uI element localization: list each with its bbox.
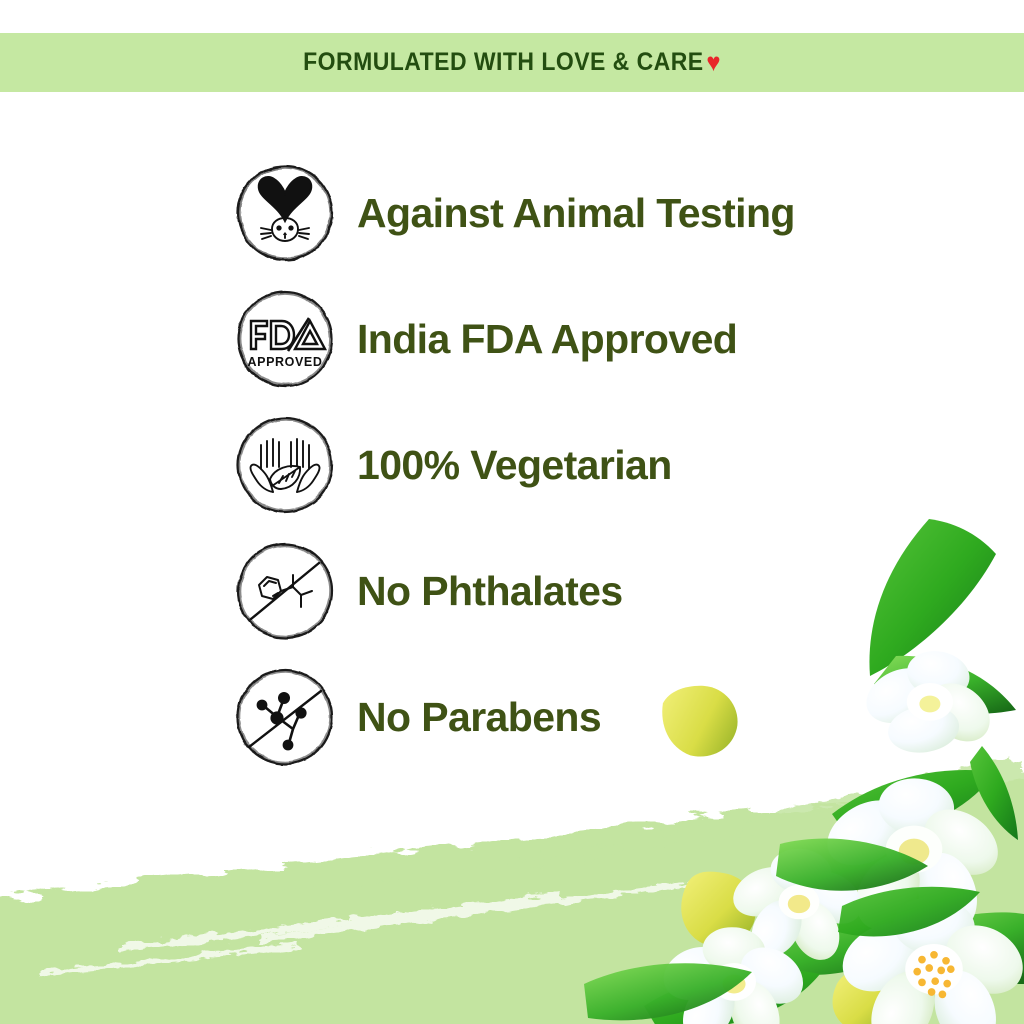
jasmine-flower-center (816, 775, 1010, 940)
claim-row-no-parabens: No Parabens (231, 664, 931, 770)
header-banner: FORMULATED WITH LOVE & CARE♥ (0, 33, 1024, 92)
no-phthalates-molecule-icon (231, 537, 339, 645)
fda-approved-icon: APPROVED (231, 285, 339, 393)
leaf-group-front (584, 839, 980, 1021)
fda-approved-sublabel: APPROVED (248, 355, 323, 369)
claim-label: No Parabens (357, 697, 601, 738)
claim-label: India FDA Approved (357, 319, 737, 360)
claim-row-vegetarian: 100% Vegetarian (231, 412, 931, 518)
claim-label: No Phthalates (357, 571, 623, 612)
banner-title: FORMULATED WITH LOVE & CARE♥ (303, 48, 721, 77)
claim-label: Against Animal Testing (357, 193, 795, 234)
hands-holding-leaf-icon (231, 411, 339, 519)
cruelty-free-bunny-heart-icon (231, 159, 339, 267)
product-claims-list: Against Animal Testing (231, 160, 931, 790)
no-parabens-molecule-icon (231, 663, 339, 771)
infographic-canvas: FORMULATED WITH LOVE & CARE♥ (0, 0, 1024, 1024)
jasmine-flower-lower-right (831, 894, 1024, 1024)
jasmine-flower-left-mid (725, 845, 871, 968)
jasmine-flower-bottom-left (656, 924, 814, 1024)
heart-icon: ♥ (706, 49, 721, 75)
claim-row-against-animal-testing: Against Animal Testing (231, 160, 931, 266)
stamen-cluster (913, 951, 954, 998)
claim-row-india-fda-approved: APPROVED India FDA Approved (231, 286, 931, 392)
claim-row-no-phthalates: No Phthalates (231, 538, 931, 644)
claim-label: 100% Vegetarian (357, 445, 672, 486)
banner-title-text: FORMULATED WITH LOVE & CARE (303, 48, 703, 76)
